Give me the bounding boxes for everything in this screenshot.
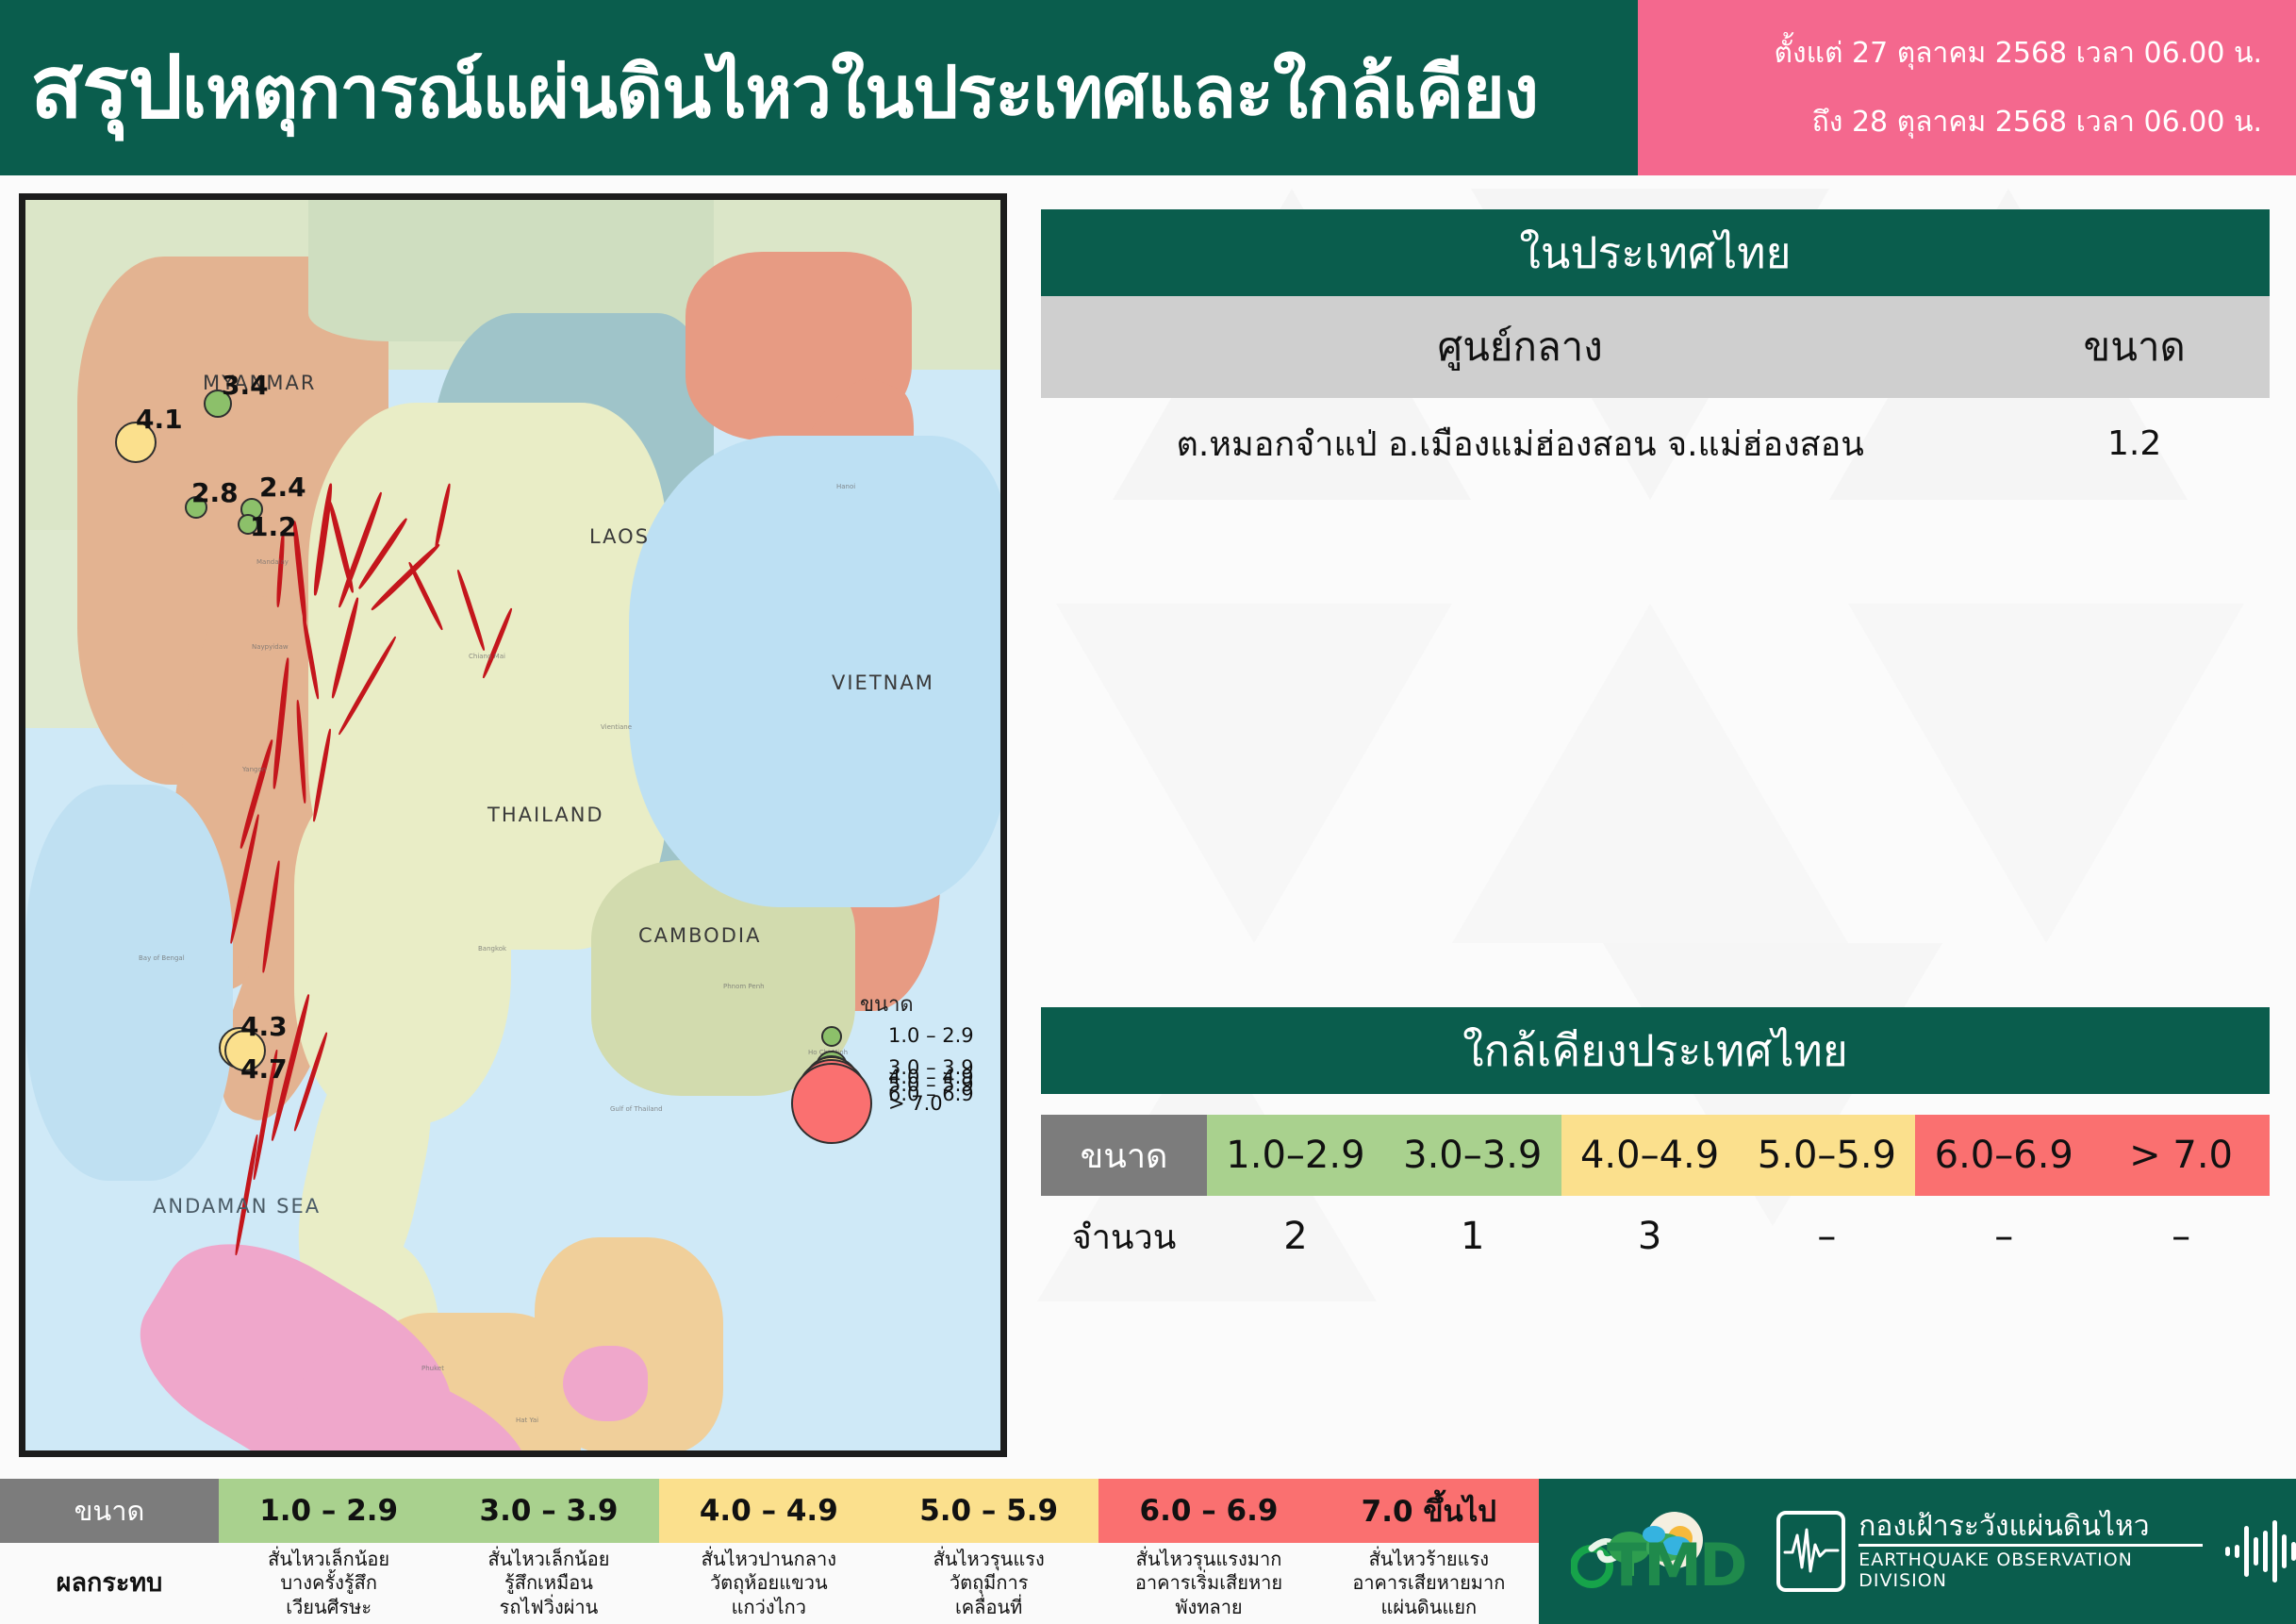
count-cell-1: 2 [1207,1196,1384,1277]
quake-magnitude-label: 4.7 [240,1053,288,1085]
near-thailand-title: ใกล้เคียงประเทศไทย [1041,1007,2270,1094]
map-minor-label: Gulf of Thailand [610,1105,663,1113]
map-label-cambodia: CAMBODIA [638,924,761,947]
impact-legend-grid: ขนาด 1.0 – 2.9 3.0 – 3.9 4.0 – 4.9 5.0 –… [0,1479,1539,1624]
map-label-vietnam: VIETNAM [832,671,934,694]
quake-magnitude-label: 4.3 [240,1011,288,1042]
legend-label: 1.0 – 2.9 [888,1024,974,1047]
eod-division-th: กองเฝ้าระวังแผ่นดินไหว [1858,1512,2203,1542]
impact-effect-2: สั่นไหวเล็กน้อย รู้สึกเหมือน รถไฟวิ่งผ่า… [438,1543,658,1624]
seismograph-icon [1776,1511,1845,1592]
page-header: สรุปเหตุการณ์แผ่นดินไหวในประเทศและใกล้เค… [0,0,2296,175]
range-cell-3: 4.0–4.9 [1561,1115,1739,1196]
impact-magnitude-3: 4.0 – 4.9 [659,1479,879,1543]
in-thailand-table: ศูนย์กลาง ขนาด ต.หมอกจำแป่ อ.เมืองแม่ฮ่อ… [1041,296,2270,489]
page-title-rest: เหตุการณ์แผ่นดินไหวในประเทศและใกล้เคียง [182,50,1538,134]
map-minor-label: Hanoi [836,483,855,490]
date-from: ตั้งแต่ 27 ตุลาคม 2568 เวลา 06.00 น. [1775,31,2263,75]
table-header-row: ศูนย์กลาง ขนาด [1041,296,2270,398]
quake-magnitude-label: 3.4 [222,370,269,401]
count-cell-4: – [1738,1196,1915,1277]
date-range-bar: ตั้งแต่ 27 ตุลาคม 2568 เวลา 06.00 น. ถึง… [1638,0,2296,175]
map-minor-label: Yangon [242,766,266,773]
tmd-logo: TMD [1571,1499,1759,1604]
quake-magnitude-label: 1.2 [250,511,297,542]
impact-legend: ขนาด 1.0 – 2.9 3.0 – 3.9 4.0 – 4.9 5.0 –… [0,1479,2296,1624]
count-cell-2: 1 [1384,1196,1561,1277]
in-thailand-title: ในประเทศไทย [1041,209,2270,296]
count-cell-6: – [2092,1196,2270,1277]
page-title: สรุปเหตุการณ์แผ่นดินไหวในประเทศและใกล้เค… [0,44,1538,131]
map-legend-title: ขนาด [860,987,1006,1020]
near-thailand-panel: ใกล้เคียงประเทศไทย ขนาด 1.0–2.9 3.0–3.9 … [1041,1007,2270,1277]
near-thailand-table: ขนาด 1.0–2.9 3.0–3.9 4.0–4.9 5.0–5.9 6.0… [1041,1115,2270,1277]
earthquake-map[interactable]: Mandalay Naypyidaw Yangon Chiang Mai Ban… [19,193,1007,1457]
impact-effect-4: สั่นไหวรุนแรง วัตถุมีการ เคลื่อนที่ [879,1543,1098,1624]
range-cell-6: > 7.0 [2092,1115,2270,1196]
eod-logo: กองเฝ้าระวังแผ่นดินไหว EARTHQUAKE OBSERV… [1776,1511,2296,1592]
impact-magnitude-5: 6.0 – 6.9 [1098,1479,1318,1543]
count-cell-3: 3 [1561,1196,1739,1277]
cell-magnitude: 1.2 [1999,398,2270,489]
legend-circle [821,1026,842,1047]
map-minor-label: Chiang Mai [469,653,505,660]
map-label-laos: LAOS [589,525,650,548]
map-minor-label: Bangkok [478,945,506,953]
cell-epicenter: ต.หมอกจำแป่ อ.เมืองแม่ฮ่องสอน จ.แม่ฮ่องส… [1041,398,1999,489]
impact-effect-1: สั่นไหวเล็กน้อย บางครั้งรู้สึก เวียนศีรษ… [219,1543,438,1624]
map-minor-label: Hat Yai [516,1417,538,1424]
range-cell-2: 3.0–3.9 [1384,1115,1561,1196]
seismograph-wave-icon [1783,1526,1840,1577]
impact-magnitude-1: 1.0 – 2.9 [219,1479,438,1543]
row-label-count: จำนวน [1041,1196,1207,1277]
map-minor-label: Phnom Penh [723,983,765,990]
map-label-andaman-sea: ANDAMAN SEA [153,1195,321,1218]
map-minor-label: Vientiane [601,723,632,731]
infographic-page: สรุปเหตุการณ์แผ่นดินไหวในประเทศและใกล้เค… [0,0,2296,1624]
map-minor-label: Phuket [421,1365,444,1372]
map-minor-label: Bay of Bengal [139,954,185,962]
logo-strip: TMD กองเฝ้าระวังแผ่นดินไหว EARTHQUAKE OB… [1539,1479,2296,1624]
row-label-magnitude: ขนาด [1041,1115,1207,1196]
map-legend: ขนาด 1.0 – 2.9 3.0 – 3.9 4.0 – 4.9 5.0 –… [808,987,1006,1094]
range-cell-4: 5.0–5.9 [1738,1115,1915,1196]
in-thailand-panel: ในประเทศไทย ศูนย์กลาง ขนาด ต.หมอกจำแป่ อ… [1041,209,2270,489]
column-header-magnitude: ขนาด [1999,296,2270,398]
impact-magnitude-4: 5.0 – 5.9 [879,1479,1098,1543]
map-minor-label: Naypyidaw [252,643,289,651]
legend-circle [791,1063,872,1144]
column-header-epicenter: ศูนย์กลาง [1041,296,1999,398]
map-canvas: Mandalay Naypyidaw Yangon Chiang Mai Ban… [25,200,1000,1450]
legend-label: > 7.0 [888,1092,943,1115]
range-cell-1: 1.0–2.9 [1207,1115,1384,1196]
table-row[interactable]: ต.หมอกจำแป่ อ.เมืองแม่ฮ่องสอน จ.แม่ฮ่องส… [1041,398,2270,489]
impact-effect-6: สั่นไหวร้ายแรง อาคารเสียหายมาก แผ่นดินแย… [1319,1543,1539,1624]
waveform-bars-icon [2225,1518,2296,1584]
impact-effect-3: สั่นไหวปานกลาง วัตถุห้อยแขวน แกว่งไกว [659,1543,879,1624]
date-to: ถึง 28 ตุลาคม 2568 เวลา 06.00 น. [1812,100,2262,144]
page-title-lead: สรุป [30,37,182,138]
map-minor-label: Mandalay [256,558,289,566]
quake-magnitude-label: 4.1 [136,404,183,435]
title-bar: สรุปเหตุการณ์แผ่นดินไหวในประเทศและใกล้เค… [0,0,1638,175]
map-label-thailand: THAILAND [487,804,604,826]
quake-magnitude-label: 2.8 [191,477,239,508]
impact-magnitude-6: 7.0 ขึ้นไป [1319,1479,1539,1543]
eod-division-en: EARTHQUAKE OBSERVATION DIVISION [1858,1544,2203,1591]
count-cell-5: – [1915,1196,2092,1277]
impact-row-label-magnitude: ขนาด [0,1479,219,1543]
range-cell-5: 6.0–6.9 [1915,1115,2092,1196]
impact-effect-5: สั่นไหวรุนแรงมาก อาคารเริ่มเสียหาย พังทล… [1098,1543,1318,1624]
impact-row-label-effect: ผลกระทบ [0,1543,219,1624]
eod-text: กองเฝ้าระวังแผ่นดินไหว EARTHQUAKE OBSERV… [1858,1512,2203,1592]
tmd-logo-text: TMD [1607,1531,1744,1599]
quake-magnitude-label: 2.4 [259,472,306,503]
impact-magnitude-2: 3.0 – 3.9 [438,1479,658,1543]
